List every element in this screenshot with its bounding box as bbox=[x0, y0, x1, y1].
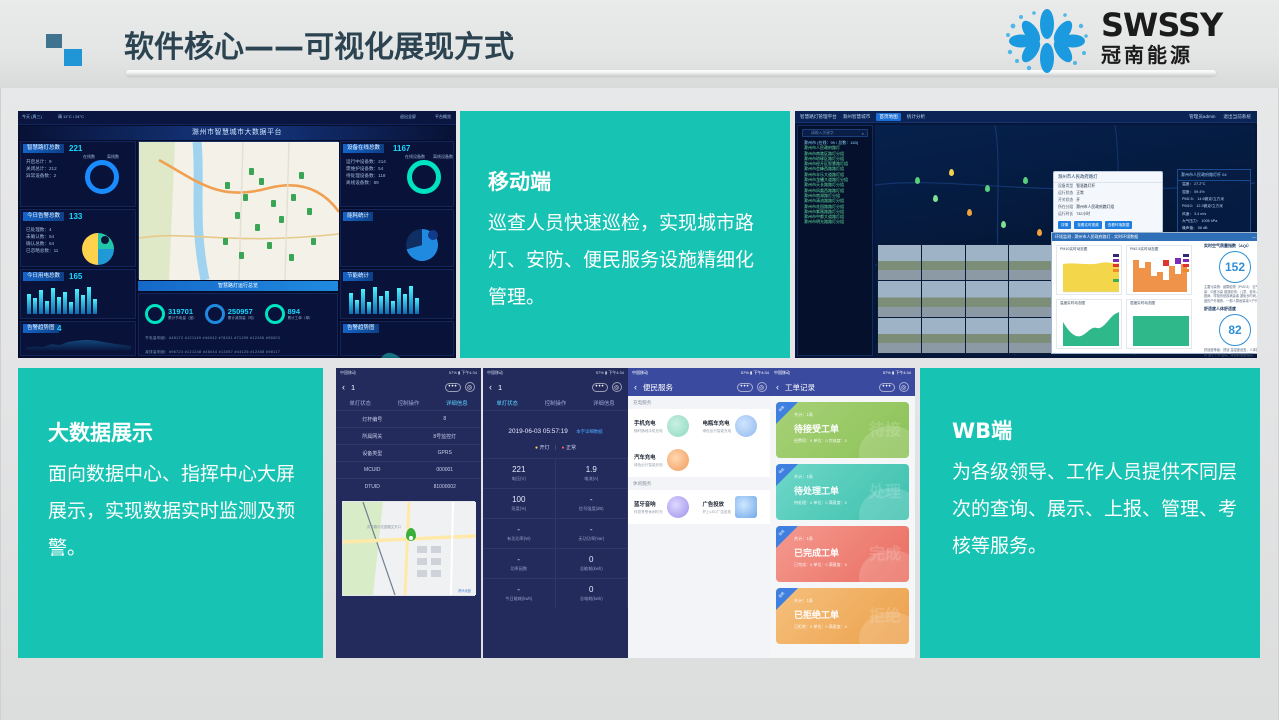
dashboard-card-alarm-trend[interactable]: 告警趋势图 4 bbox=[20, 321, 136, 356]
back-arrow-icon[interactable]: ‹ bbox=[342, 382, 345, 392]
chart-humidity: 湿度实时动态图 bbox=[1126, 299, 1192, 349]
table-row: MCUID 000001 bbox=[336, 461, 481, 478]
service-item-ad-display[interactable]: 广告投放 杆上LED广告投放 bbox=[703, 496, 768, 518]
legend-swatch bbox=[1113, 254, 1119, 257]
card-count: 共计：1条 bbox=[794, 598, 813, 604]
service-title: 蓝牙音响 bbox=[634, 500, 663, 508]
tab-lamp-status[interactable]: 单灯状态 bbox=[483, 399, 531, 407]
popup-row: 运行时长 732小时 bbox=[1054, 211, 1162, 218]
status-battery-time: 57% ▮ 下午4:34 bbox=[449, 370, 477, 376]
map-vector bbox=[139, 142, 339, 280]
card-line: 未确认数：54 bbox=[26, 233, 58, 240]
map-pin-icon[interactable] bbox=[967, 209, 972, 216]
camera-tile[interactable] bbox=[922, 245, 965, 280]
flag-label: 待接 bbox=[777, 404, 785, 412]
metric-value: 0 bbox=[589, 555, 593, 564]
metric-value: 221 bbox=[512, 465, 525, 474]
metric-value: - bbox=[517, 555, 520, 564]
total-label: 累计工单（单） bbox=[288, 316, 313, 321]
car-charge-icon bbox=[667, 449, 689, 471]
card-ghost-text: 待接 bbox=[869, 416, 901, 440]
metric-label: 有功功率(W) bbox=[507, 536, 531, 542]
popup-row: 开关状态 开 bbox=[1054, 197, 1162, 204]
gis-nav-stats[interactable]: 统计分析 bbox=[907, 114, 925, 120]
gis-nav-city[interactable]: 滁州智慧城市 bbox=[843, 114, 871, 120]
dashboard-topbar: 今天 (周三) 晴 11°C / 24°C 退出全屏 平台概览 bbox=[18, 111, 456, 125]
phone-nav-bar: ‹ 1 ••• ◎ bbox=[336, 378, 481, 396]
camera-tile[interactable] bbox=[878, 245, 921, 280]
section-label-charging: 充电服务 bbox=[628, 396, 773, 409]
dashboard-card-today-power[interactable]: 今日用电总数 165 bbox=[20, 269, 136, 319]
tree-item[interactable]: 滁州市明光路路灯分组 bbox=[798, 219, 872, 224]
pie-chart bbox=[77, 232, 119, 266]
metric-cell: - 信号强度(dB) bbox=[556, 488, 629, 518]
phone-tab-bar: 单灯状态 控制操作 详细信息 bbox=[336, 396, 481, 410]
legend-device-offline: 离线设备数 bbox=[433, 154, 453, 160]
service-desc: 杆上LED广告投放 bbox=[703, 510, 732, 515]
area-chart bbox=[26, 336, 131, 351]
comfort-label: 舒适度人体舒适度 bbox=[1204, 306, 1257, 312]
legend-swatch bbox=[1183, 269, 1189, 272]
phone-nav-title: 1 bbox=[351, 383, 355, 392]
env-aqi-panel: 实时空气质量指数（AQI） 152 主要污染物：细颗粒物（PM2.5） 空气质量… bbox=[1204, 243, 1257, 358]
card-bigdata-display: 大数据展示 面向数据中心、指挥中心大屏展示，实现数据实时监测及预警。 bbox=[18, 368, 323, 658]
camera-tile[interactable] bbox=[922, 281, 965, 316]
dashboard-totals: 319701 累计节电量（度） 250957 累计减排量（吨） 894 累计 bbox=[138, 293, 338, 356]
card-wb-inner: WB端 为各级领导、工作人员提供不同层次的查询、展示、上报、管理、考核等服务。 bbox=[952, 418, 1244, 565]
gis-nav-logout[interactable]: 退出当前系统 bbox=[1223, 114, 1251, 120]
dashboard-card-wave[interactable]: 告警趋势图 bbox=[340, 321, 454, 356]
dashboard-card-saving[interactable]: 节能统计 bbox=[340, 269, 454, 319]
card-lines: 开启总计：9 关闭总计：212 异常设备数：2 bbox=[26, 158, 57, 179]
camera-tile[interactable] bbox=[878, 281, 921, 316]
service-item-phone-charge[interactable]: 手机充电 随时随地手机充电 bbox=[634, 415, 699, 437]
card-mobile-client: 移动端 巡查人员快速巡检，实现城市路灯、安防、便民服务设施精细化管理。 bbox=[460, 111, 790, 358]
card-line: 确认总数：64 bbox=[26, 240, 58, 247]
card-header: 今日用电总数 bbox=[23, 272, 64, 281]
map-pin-icon[interactable] bbox=[1023, 177, 1028, 184]
aqi-description: 主要污染物：细颗粒物（PM2.5） 空气质量：中度污染 健康影响：儿童、老年人及… bbox=[1204, 285, 1257, 303]
popup-env-button[interactable]: 查看环境数据 bbox=[1105, 221, 1133, 229]
metric-label: 总电耗(kwh) bbox=[580, 596, 603, 602]
card-lines: 运行中设备数：214 需维护设备数：54 待处理设备数：118 离线设备数：89 bbox=[346, 158, 386, 186]
status-carrier: 中国移动 bbox=[487, 370, 503, 376]
camera-tile[interactable] bbox=[922, 318, 965, 353]
total-label: 累计节电量（度） bbox=[168, 316, 197, 321]
status-battery-time: 57% ▮ 下午4:34 bbox=[741, 370, 769, 376]
card-ghost-text: 完成 bbox=[869, 540, 901, 564]
card-title: 待接受工单 bbox=[794, 422, 839, 435]
gis-sidebar[interactable]: 请输入关键字 ⌕ 滁州市 (在线：99 / 总数：163) 滁州市人民政府路灯 … bbox=[797, 125, 873, 356]
aqi-value: 152 bbox=[1219, 251, 1251, 283]
table-row: 所属网关 8号监控灯 bbox=[336, 427, 481, 444]
metric-cell: 100 亮度(%) bbox=[483, 488, 556, 518]
phone-nav-bar: ‹ 1 ••• ◎ bbox=[483, 378, 628, 396]
total-item: 319701 累计节电量（度） bbox=[145, 304, 197, 324]
phone-charge-icon bbox=[667, 415, 689, 437]
row-key: 灯杆编号 bbox=[336, 416, 409, 423]
bar-chart bbox=[349, 286, 419, 314]
back-arrow-icon[interactable]: ‹ bbox=[634, 382, 637, 392]
screenshot-gis-heatmap-platform[interactable]: 智慧路灯管理平台 滁州智慧城市 首页地图 统计分析 管理员admin 退出当前系… bbox=[795, 111, 1257, 358]
metric-value: - bbox=[590, 525, 593, 534]
popup-key: 运行时长 bbox=[1058, 212, 1073, 217]
service-desc: 绿色出行智能充电 bbox=[703, 429, 732, 434]
metric-value: - bbox=[517, 525, 520, 534]
chip-normal-icon: ● bbox=[562, 445, 565, 451]
phone-nav-title: 便民服务 bbox=[643, 382, 673, 393]
tab-control[interactable]: 控制操作 bbox=[384, 399, 432, 407]
popup-detail-button[interactable]: 详情 bbox=[1058, 221, 1071, 229]
close-circle-icon[interactable]: ◎ bbox=[757, 382, 767, 392]
metric-label: 今日能耗(kwh) bbox=[505, 596, 532, 602]
dashboard-weather-left: 今天 (周三) bbox=[22, 114, 42, 120]
service-card-leisure: 蓝牙音响 伴您享受休闲时光 广告投放 杆上LED广告投放 bbox=[628, 490, 773, 524]
metric-label: 总能耗(kwh) bbox=[580, 566, 603, 572]
workorder-card-rejected[interactable]: 拒绝 拒绝 共计：1条 已拒绝工单 已拒绝：0 单位：0 满意度：0 bbox=[776, 588, 909, 644]
card-kpi: 4 bbox=[57, 324, 61, 333]
metric-label: 亮度(%) bbox=[511, 506, 526, 512]
tab-detail[interactable]: 详细信息 bbox=[433, 399, 481, 407]
gis-device-tree[interactable]: 滁州市 (在线：99 / 总数：163) 滁州市人民政府路灯 滁州市南谯区路灯分… bbox=[798, 140, 872, 355]
dashboard-overview-link[interactable]: 平台概览 bbox=[435, 114, 451, 120]
total-item: 250957 累计减排量（吨） bbox=[205, 304, 257, 324]
screenshot-phone-public-services[interactable]: 中国移动 57% ▮ 下午4:34 ‹ 便民服务 ••• ◎ 充电服务 手机充电… bbox=[628, 368, 773, 658]
gis-nav-map[interactable]: 首页地图 bbox=[876, 113, 900, 121]
metric-cell: - 功率因数 bbox=[483, 548, 556, 578]
total-value: 250957 bbox=[228, 307, 257, 316]
row-value: 81000002 bbox=[409, 484, 482, 490]
service-title: 汽车充电 bbox=[634, 453, 663, 461]
row-key: 所属网关 bbox=[336, 433, 409, 440]
phone-status-bar: 中国移动 57% ▮ 下午4:34 bbox=[336, 368, 481, 378]
phone-capsule-buttons: ••• ◎ bbox=[445, 382, 475, 392]
metric-value: 100 bbox=[512, 495, 525, 504]
ad-display-icon bbox=[735, 496, 757, 518]
donut-icon bbox=[145, 304, 165, 324]
bluetooth-speaker-icon bbox=[667, 496, 689, 518]
metric-cell: 0 总能耗(kwh) bbox=[556, 548, 629, 578]
popup-value: 智慧路灯杆 bbox=[1076, 184, 1095, 189]
chart-pm10: PM10实时动态图 bbox=[1056, 245, 1122, 295]
dashboard-platform-title: 滁州市智慧城市大数据平台 bbox=[18, 126, 456, 140]
tab-lamp-status[interactable]: 单灯状态 bbox=[336, 399, 384, 407]
popup-row: 所在分组 滁州市人民政府路灯组 bbox=[1054, 204, 1162, 211]
donut-icon bbox=[265, 304, 285, 324]
table-row: 灯杆编号 8 bbox=[336, 410, 481, 427]
service-text: 电瓶车充电 绿色出行智能充电 bbox=[703, 419, 732, 434]
status-carrier: 中国移动 bbox=[632, 370, 648, 376]
popup-key: 运行状态 bbox=[1058, 191, 1073, 196]
table-row: DTUID 81000002 bbox=[336, 478, 481, 495]
flag-label: 拒绝 bbox=[777, 590, 785, 598]
metric-label: 无功功率(Var) bbox=[578, 536, 604, 542]
metric-value: 1.9 bbox=[586, 465, 597, 474]
card-count: 共计：1条 bbox=[794, 474, 813, 480]
card-meta: 已拒绝：0 单位：0 满意度：0 bbox=[794, 624, 847, 630]
card-meta: 经费项：0 单位：0 完成度：0 bbox=[794, 438, 847, 444]
card-line: 异常设备数：2 bbox=[26, 172, 57, 179]
card-line: 离线设备数：89 bbox=[346, 179, 386, 186]
metric-label: 电流(A) bbox=[584, 476, 598, 482]
metric-label: 信号强度(dB) bbox=[579, 506, 604, 512]
total-item: 894 累计工单（单） bbox=[265, 304, 313, 324]
map-pin-icon[interactable] bbox=[933, 195, 938, 202]
service-title: 电瓶车充电 bbox=[703, 419, 732, 427]
bar-chart bbox=[27, 286, 97, 314]
card-wb-title: WB端 bbox=[952, 418, 1244, 444]
tab-control[interactable]: 控制操作 bbox=[531, 399, 579, 407]
gis-heatmap-canvas[interactable]: 滁州市人民政府路灯 设备类型 智慧路灯杆 运行状态 正常 开关状态 开 所在分组… bbox=[875, 125, 1255, 356]
popup-key: 所在分组 bbox=[1058, 205, 1073, 210]
window-controls-icon[interactable]: —▫✕ bbox=[1252, 233, 1257, 241]
card-lines: 已处理数：4 未确认数：54 确认总数：64 已忽略总数：11 bbox=[26, 226, 58, 254]
card-count: 共计：1条 bbox=[794, 536, 813, 542]
service-desc: 绿色出行智能充电 bbox=[634, 463, 663, 468]
camera-tile[interactable] bbox=[1009, 281, 1052, 316]
metric-label: 电压(V) bbox=[512, 476, 526, 482]
popup-value: 开 bbox=[1076, 198, 1080, 203]
popup-value: 滁州市人民政府路灯组 bbox=[1076, 205, 1114, 210]
camera-tile[interactable] bbox=[1009, 245, 1052, 280]
gis-top-nav: 智慧路灯管理平台 滁州智慧城市 首页地图 统计分析 管理员admin 退出当前系… bbox=[795, 111, 1257, 123]
card-meta: 待处理：0 单位：0 满意度：0 bbox=[794, 500, 847, 506]
camera-tile[interactable] bbox=[966, 281, 1009, 316]
total-label: 累计减排量（吨） bbox=[228, 316, 257, 321]
legend-offline: 离线数 bbox=[107, 154, 119, 160]
popup-row: 设备类型 智慧路灯杆 bbox=[1054, 183, 1162, 190]
metric-cell: - 今日能耗(kwh) bbox=[483, 578, 556, 608]
lamp-status-summary: 2019-06-03 05:57:19 本字详细数据 ● 开灯 | ● 正常 bbox=[483, 410, 628, 458]
service-text: 蓝牙音响 伴您享受休闲时光 bbox=[634, 500, 663, 515]
card-line: 关闭总计：212 bbox=[26, 165, 57, 172]
service-title: 手机充电 bbox=[634, 419, 663, 427]
map-pin-icon[interactable] bbox=[1001, 221, 1006, 228]
status-timestamp-row: 2019-06-03 05:57:19 本字详细数据 bbox=[483, 420, 628, 438]
more-menu-icon[interactable]: ••• bbox=[445, 383, 461, 392]
infobox-header: 滁州市人民政府路灯杆 04 bbox=[1178, 170, 1250, 181]
city-map[interactable] bbox=[138, 141, 338, 279]
more-menu-icon[interactable]: ••• bbox=[879, 383, 895, 392]
phone-nav-bar: ‹ 工单记录 ••• ◎ bbox=[770, 378, 915, 396]
chip-on-label: 开灯 bbox=[539, 445, 549, 451]
map-pin-icon[interactable] bbox=[949, 169, 954, 176]
totals-row: 319701 累计节电量（度） 250957 累计减排量（吨） 894 累计 bbox=[145, 304, 313, 324]
dashboard-card-alarm-total[interactable]: 今日告警总数 133 已处理数：4 未确认数：54 确认总数：64 已忽略总数：… bbox=[20, 209, 136, 267]
card-kpi: 221 bbox=[69, 144, 82, 153]
square-blue-icon bbox=[64, 49, 82, 66]
metric-cell: 221 电压(V) bbox=[483, 458, 556, 488]
card-bigdata-inner: 大数据展示 面向数据中心、指挥中心大屏展示，实现数据实时监测及预警。 bbox=[48, 420, 307, 567]
service-text: 汽车充电 绿色出行智能充电 bbox=[634, 453, 663, 468]
service-desc: 伴您享受休闲时光 bbox=[634, 510, 663, 515]
square-dark-icon bbox=[46, 34, 62, 48]
back-arrow-icon[interactable]: ‹ bbox=[489, 382, 492, 392]
gis-nav-right-group: 管理员admin 退出当前系统 bbox=[1189, 114, 1251, 120]
dashboard-center-column: 智慧路灯运行总览 319701 累计节电量（度） 250957 累计减排量（吨） bbox=[138, 141, 338, 356]
total-value: 894 bbox=[288, 307, 313, 316]
card-mobile-inner: 移动端 巡查人员快速巡检，实现城市路灯、安防、便民服务设施精细化管理。 bbox=[488, 169, 770, 316]
legend-swatch bbox=[1113, 279, 1119, 282]
gis-nav-platform[interactable]: 智慧路灯管理平台 bbox=[800, 114, 837, 120]
logo-text-block: SWSSY 冠南能源 bbox=[1101, 8, 1222, 68]
card-ghost-text: 处理 bbox=[869, 478, 901, 502]
legend-swatch bbox=[1113, 259, 1119, 262]
card-wb-body: 为各级领导、工作人员提供不同层次的查询、展示、上报、管理、考核等服务。 bbox=[952, 454, 1244, 565]
pie-chart-blue bbox=[393, 226, 451, 264]
card-title: 已拒绝工单 bbox=[794, 608, 839, 621]
search-icon[interactable]: ⌕ bbox=[862, 131, 864, 136]
dashboard-card-device-online[interactable]: 设备在线总数 1167 运行中设备数：214 需维护设备数：54 待处理设备数：… bbox=[340, 141, 454, 207]
lamp-detail-table: 灯杆编号 8 所属网关 8号监控灯 设备类型 GPRS MCUID 000001… bbox=[336, 410, 481, 495]
totals-detail-line: 减排量明细：#96723 #121248 #46044 #13057 #4412… bbox=[145, 350, 280, 355]
tab-detail[interactable]: 详细信息 bbox=[580, 399, 628, 407]
dashboard-left-column: 智慧路灯总数 221 开启总计：9 关闭总计：212 异常设备数：2 在线数 离… bbox=[20, 141, 136, 356]
map-vector: 庆丰路与花园路交叉口 bbox=[343, 502, 476, 595]
row-value: 8 bbox=[409, 416, 482, 422]
service-card-charging: 手机充电 随时随地手机充电 电瓶车充电 绿色出行智能充电 汽车充电 绿色出行智能… bbox=[628, 409, 773, 477]
card-mobile-title: 移动端 bbox=[488, 169, 770, 195]
card-bigdata-title: 大数据展示 bbox=[48, 420, 307, 446]
service-row: 汽车充电 绿色出行智能充电 bbox=[628, 443, 773, 477]
screenshot-phone-work-orders[interactable]: 中国移动 57% ▮ 下午4:34 ‹ 工单记录 ••• ◎ 待接 待接 共计：… bbox=[770, 368, 915, 658]
dashboard-card-energy[interactable]: 能耗统计 bbox=[340, 209, 454, 267]
chart-area-temp bbox=[1057, 300, 1123, 350]
metric-value: 0 bbox=[589, 585, 593, 594]
status-carrier: 中国移动 bbox=[774, 370, 790, 376]
phone-capsule-buttons: ••• ◎ bbox=[592, 382, 622, 392]
card-line: 已忽略总数：11 bbox=[26, 247, 58, 254]
phone-nav-title: 工单记录 bbox=[785, 382, 815, 393]
legend-swatch bbox=[1183, 264, 1189, 267]
chart-area-humidity bbox=[1127, 300, 1193, 350]
camera-tile[interactable] bbox=[1009, 318, 1052, 353]
metric-cell: - 有功功率(W) bbox=[483, 518, 556, 548]
camera-tile[interactable] bbox=[966, 245, 1009, 280]
table-row: 设备类型 GPRS bbox=[336, 444, 481, 461]
service-text: 手机充电 随时随地手机充电 bbox=[634, 419, 663, 434]
chip-divider: | bbox=[555, 445, 556, 451]
metric-value: - bbox=[517, 585, 520, 594]
legend-swatch bbox=[1183, 259, 1189, 262]
workorder-card-completed[interactable]: 完成 完成 共计：1条 已完成工单 已完成：0 单位：0 满意度：0 bbox=[776, 526, 909, 582]
map-pin-icon[interactable] bbox=[985, 185, 990, 192]
status-timestamp: 2019-06-03 05:57:19 bbox=[508, 428, 567, 435]
service-text: 广告投放 杆上LED广告投放 bbox=[703, 500, 732, 515]
camera-tile[interactable] bbox=[966, 318, 1009, 353]
status-timestamp-tag[interactable]: 本字详细数据 bbox=[576, 429, 602, 434]
camera-tile[interactable] bbox=[878, 318, 921, 353]
dashboard-exit-fullscreen[interactable]: 退出全屏 bbox=[400, 114, 416, 120]
lamp-location-map[interactable]: 庆丰路与花园路交叉口 腾讯地图 bbox=[342, 501, 475, 596]
service-title: 广告投放 bbox=[703, 500, 732, 508]
metric-value: - bbox=[590, 495, 593, 504]
water-drop-logo-icon bbox=[1001, 8, 1093, 74]
header-decoration-squares bbox=[46, 34, 84, 66]
infobox-row: PM10： 12.3微克/立方米 bbox=[1178, 203, 1250, 210]
screenshot-phone-lamp-detail[interactable]: 中国移动 57% ▮ 下午4:34 ‹ 1 ••• ◎ 单灯状态 控制操作 详细… bbox=[336, 368, 481, 658]
card-line: 待处理设备数：118 bbox=[346, 172, 386, 179]
popup-title: 滁州市人民政府路灯 bbox=[1054, 172, 1162, 183]
service-item-car-charge[interactable]: 汽车充电 绿色出行智能充电 bbox=[634, 449, 699, 471]
card-bigdata-body: 面向数据中心、指挥中心大屏展示，实现数据实时监测及预警。 bbox=[48, 456, 307, 567]
gis-search-input[interactable]: 请输入关键字 ⌕ bbox=[802, 129, 868, 137]
infobox-row: PM2.5： 14.6微克/立方米 bbox=[1178, 196, 1250, 203]
gis-nav-user[interactable]: 管理员admin bbox=[1189, 114, 1215, 120]
company-logo: SWSSY 冠南能源 bbox=[1001, 6, 1261, 78]
aqi-label: 实时空气质量指数（AQI） bbox=[1204, 243, 1257, 249]
card-title: 待处理工单 bbox=[794, 484, 839, 497]
status-battery-time: 57% ▮ 下午4:34 bbox=[883, 370, 911, 376]
map-pin-icon[interactable] bbox=[915, 177, 920, 184]
screenshot-city-bigdata-dashboard[interactable]: 今天 (周三) 晴 11°C / 24°C 退出全屏 平台概览 滁州市智慧城市大… bbox=[18, 111, 456, 358]
chip-normal-label: 正常 bbox=[566, 445, 576, 451]
popup-key: 开关状态 bbox=[1058, 198, 1073, 203]
service-item-ebike-charge[interactable]: 电瓶车充电 绿色出行智能充电 bbox=[703, 415, 768, 437]
infobox-row: 大气压力： 1005 hPa bbox=[1178, 218, 1250, 225]
close-circle-icon[interactable]: ◎ bbox=[465, 382, 475, 392]
card-header: 今日告警总数 bbox=[23, 212, 64, 221]
metric-label: 功率因数 bbox=[510, 566, 527, 572]
donut-chart bbox=[85, 160, 119, 194]
service-item-bluetooth-speaker[interactable]: 蓝牙音响 伴您享受休闲时光 bbox=[634, 496, 699, 518]
card-count: 共计：1条 bbox=[794, 412, 813, 418]
env-monitor-window[interactable]: 环境监测 - 滁州市人民政府路灯 - 实时环境数据 —▫✕ PM10实时动态图 … bbox=[1051, 232, 1257, 354]
workorder-card-pending-accept[interactable]: 待接 待接 共计：1条 待接受工单 经费项：0 单位：0 完成度：0 bbox=[776, 402, 909, 458]
card-kpi: 165 bbox=[69, 272, 82, 281]
workorder-card-pending-process[interactable]: 待处 处理 共计：1条 待处理工单 待处理：0 单位：0 满意度：0 bbox=[776, 464, 909, 520]
popup-video-button[interactable]: 查看实时视频 bbox=[1074, 221, 1102, 229]
service-row: 蓝牙音响 伴您享受休闲时光 广告投放 杆上LED广告投放 bbox=[628, 490, 773, 524]
card-line: 已处理数：4 bbox=[26, 226, 58, 233]
chart-temperature: 温度实时动态图 bbox=[1056, 299, 1122, 349]
row-value: 8号监控灯 bbox=[409, 433, 482, 440]
map-pin-icon[interactable] bbox=[1037, 229, 1042, 236]
card-line: 需维护设备数：54 bbox=[346, 165, 386, 172]
phone-tab-bar: 单灯状态 控制操作 详细信息 bbox=[483, 396, 628, 410]
popup-row: 运行状态 正常 bbox=[1054, 190, 1162, 197]
screenshot-phone-lamp-status[interactable]: 中国移动 57% ▮ 下午4:34 ‹ 1 ••• ◎ 单灯状态 控制操作 详细… bbox=[483, 368, 628, 658]
dashboard-total-bar-title: 智慧路灯运行总览 bbox=[138, 281, 338, 291]
logo-brand-name: SWSSY bbox=[1101, 8, 1222, 42]
map-location-pin-icon bbox=[406, 528, 416, 541]
service-desc: 随时随地手机充电 bbox=[634, 429, 663, 434]
more-menu-icon[interactable]: ••• bbox=[737, 383, 753, 392]
legend-swatch bbox=[1183, 254, 1189, 257]
back-arrow-icon[interactable]: ‹ bbox=[776, 382, 779, 392]
metric-cell: 1.9 电流(A) bbox=[556, 458, 629, 488]
more-menu-icon[interactable]: ••• bbox=[592, 383, 608, 392]
dashboard-card-lamp-total[interactable]: 智慧路灯总数 221 开启总计：9 关闭总计：212 异常设备数：2 在线数 离… bbox=[20, 141, 136, 207]
wave-chart bbox=[345, 336, 451, 358]
close-circle-icon[interactable]: ◎ bbox=[899, 382, 909, 392]
gis-device-popup[interactable]: 滁州市人民政府路灯 设备类型 智慧路灯杆 运行状态 正常 开关状态 开 所在分组… bbox=[1053, 171, 1163, 233]
phone-status-bar: 中国移动 57% ▮ 下午4:34 bbox=[770, 368, 915, 378]
legend-online: 在线数 bbox=[83, 154, 95, 160]
ebike-charge-icon bbox=[735, 415, 757, 437]
cctv-camera-wall[interactable] bbox=[877, 244, 1053, 354]
total-value: 319701 bbox=[168, 307, 197, 316]
card-line: 运行中设备数：214 bbox=[346, 158, 386, 165]
totals-detail-line: 节电量明细：#48172 #121149 #46042 #78431 #7129… bbox=[145, 336, 280, 341]
section-label-leisure: 休闲服务 bbox=[628, 477, 773, 490]
page-left-edge bbox=[0, 88, 1, 720]
close-circle-icon[interactable]: ◎ bbox=[612, 382, 622, 392]
card-header: 能耗统计 bbox=[343, 212, 373, 221]
legend-swatch bbox=[1113, 269, 1119, 272]
env-window-title: 环境监测 - 滁州市人民政府路灯 - 实时环境数据 bbox=[1055, 234, 1138, 239]
card-kpi: 1167 bbox=[393, 144, 410, 153]
